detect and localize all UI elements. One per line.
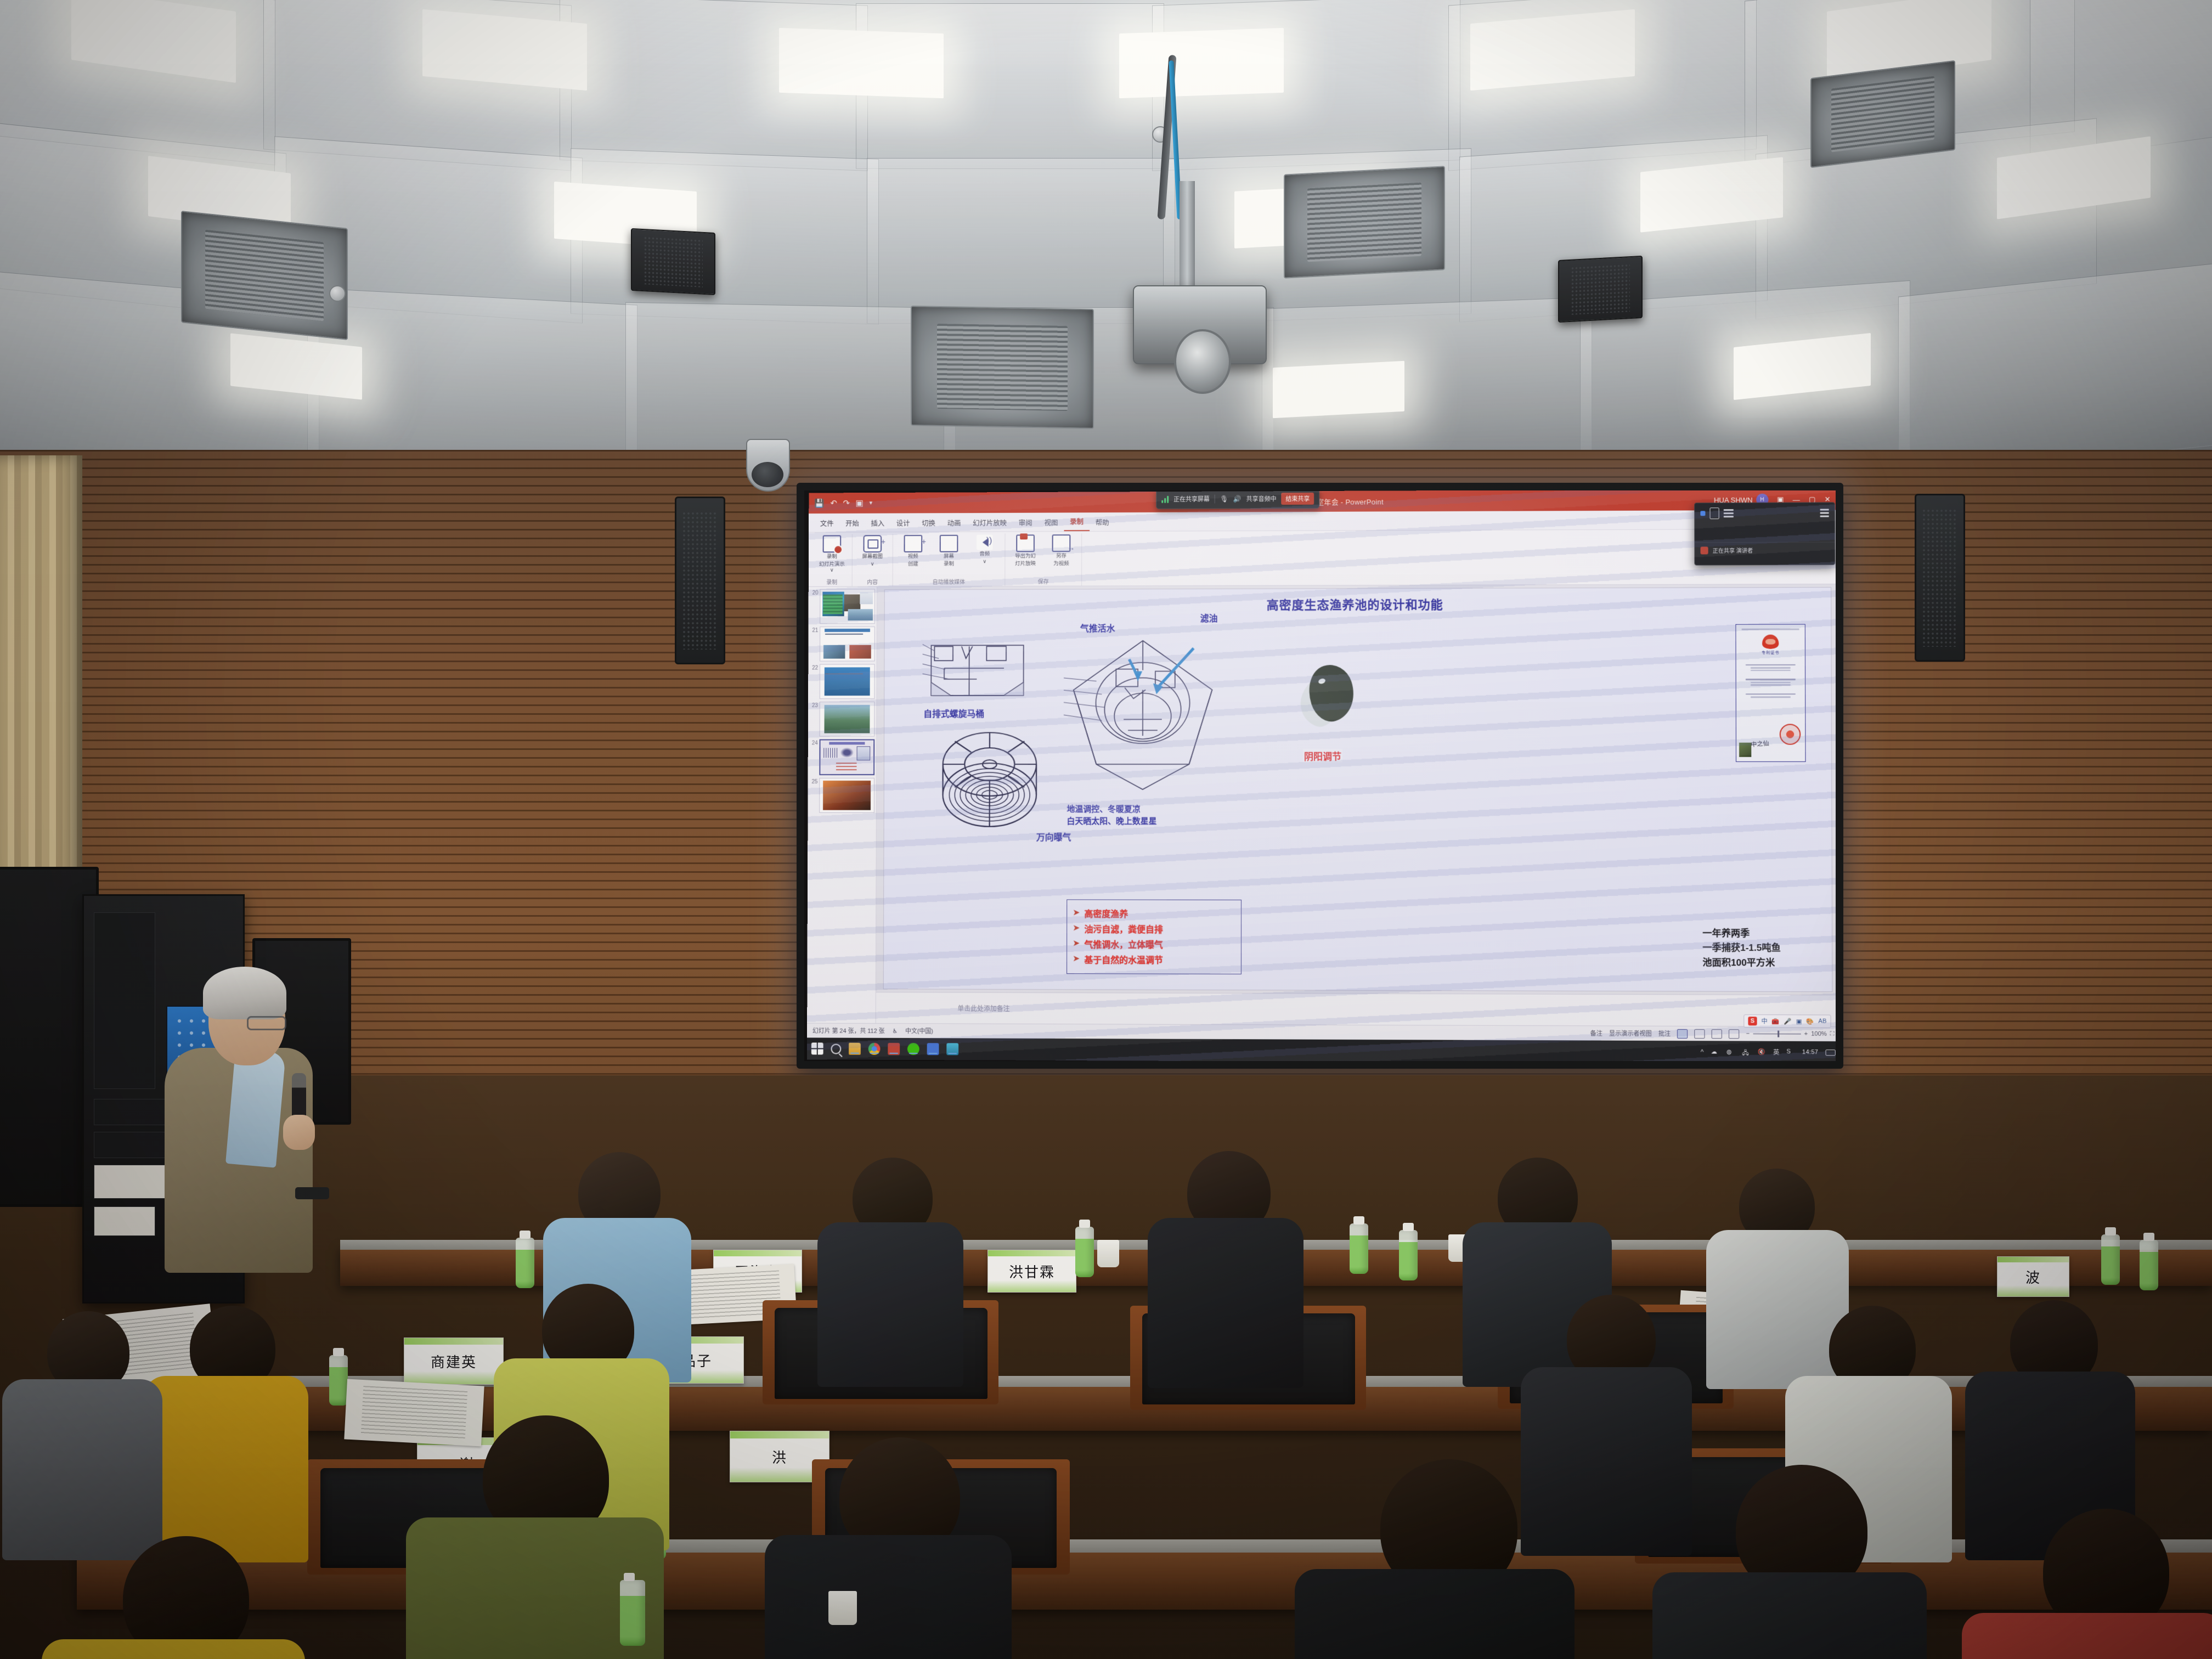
ceiling-light bbox=[1119, 28, 1284, 98]
water-bottle bbox=[1399, 1230, 1418, 1280]
thumbnail-preview[interactable] bbox=[820, 589, 875, 624]
slide-counter: 幻灯片 第 24 张，共 112 张 bbox=[812, 1026, 885, 1035]
water-bottle bbox=[2140, 1240, 2158, 1290]
certificate-photo bbox=[1739, 743, 1751, 757]
start-button-icon[interactable] bbox=[811, 1042, 823, 1054]
ribbon-item-sublabel: 创建 bbox=[908, 562, 918, 568]
thumbnail-number: 23 bbox=[810, 702, 818, 709]
bullet-item: ➤ 高密度渔养 bbox=[1073, 906, 1235, 920]
record-slideshow-icon bbox=[823, 535, 842, 553]
ceiling-camera-icon bbox=[746, 439, 790, 492]
present-icon[interactable]: ▣ bbox=[856, 499, 864, 507]
bullet-label: 气推调水，立体曝气 bbox=[1084, 937, 1163, 950]
ribbon-group-name: 录制 bbox=[826, 577, 837, 586]
screen-recording-button[interactable]: 屏幕 录制 bbox=[934, 535, 964, 568]
ribbon-group-record: 录制 幻灯片演示 ∨ 录制 bbox=[812, 534, 853, 586]
notes-button[interactable]: 备注 bbox=[1590, 1029, 1602, 1037]
record-slideshow-button[interactable]: 录制 幻灯片演示 ∨ bbox=[817, 535, 847, 573]
reading-view-icon[interactable] bbox=[1712, 1029, 1722, 1039]
insert-audio-button[interactable]: 音频 ∨ bbox=[970, 535, 1000, 566]
projection-screen: 💾 ↶ ↷ ▣ ▾ 2024年度创新实验室年会 - PowerPoint HUA… bbox=[797, 483, 1843, 1069]
bullet-label: 油污自滤，粪便自排 bbox=[1084, 922, 1163, 935]
ceiling-light bbox=[422, 9, 587, 91]
certificate-caption: 专利证书 bbox=[1740, 650, 1802, 655]
notes-pane[interactable]: 单击此处添加备注 bbox=[876, 992, 1840, 1026]
ribbon-item-sublabel: ∨ bbox=[983, 559, 986, 565]
presenter-shirt bbox=[225, 1048, 286, 1167]
sogou-logo-icon: S bbox=[1748, 1017, 1757, 1025]
label-omnidirectional-aeration: 万向曝气 bbox=[1036, 830, 1071, 843]
network-icon[interactable]: 🖧 bbox=[1742, 1048, 1750, 1056]
signature: 中之仙 bbox=[1751, 738, 1769, 748]
ime-mode-icon[interactable]: 中 bbox=[1761, 1017, 1767, 1025]
thumbnail-preview[interactable] bbox=[820, 664, 875, 699]
slide-thumbnail[interactable]: 23 bbox=[810, 702, 875, 737]
signal-bars-icon bbox=[1161, 495, 1169, 503]
ribbon-item-label: 音频 bbox=[979, 551, 990, 557]
tab-record[interactable]: 录制 bbox=[1064, 513, 1090, 531]
ribbon-item-label: 录制 bbox=[827, 554, 837, 560]
zoom-level: 100% bbox=[1811, 1031, 1827, 1037]
stat-line-2: 一季捕获1-1.5吨鱼 bbox=[1702, 941, 1781, 956]
screen-record-icon bbox=[940, 535, 958, 552]
ribbon-item-label: 屏幕截图 bbox=[862, 554, 883, 560]
notification-icon[interactable] bbox=[1825, 1049, 1835, 1056]
ribbon-item-sublabel: 幻灯片演示 ∨ bbox=[817, 562, 847, 574]
thumbnail-number: 22 bbox=[810, 664, 818, 672]
name-card-shang-jianying: 商建英 bbox=[404, 1338, 504, 1385]
ime-toolbar[interactable]: S 中 🧰 🎤 ▣ 🎨 AB bbox=[1743, 1014, 1831, 1028]
share-status-label: 正在共享屏幕 bbox=[1173, 495, 1210, 504]
ceiling-light bbox=[779, 28, 944, 98]
tab-insert[interactable]: 插入 bbox=[865, 515, 890, 532]
ribbon-item-label: 另存 bbox=[1056, 554, 1066, 560]
slide-sorter-icon[interactable] bbox=[1695, 1029, 1705, 1039]
stat-line-3: 池面积100平方米 bbox=[1702, 956, 1781, 970]
share-audio-label: 共享音频中 bbox=[1246, 494, 1277, 503]
slide-thumbnail[interactable]: 25 bbox=[809, 778, 874, 813]
ime-toolbox-icon[interactable]: 🧰 bbox=[1772, 1018, 1780, 1025]
water-bottle bbox=[1350, 1223, 1368, 1274]
taskbar-clock[interactable]: 14:57 bbox=[1802, 1049, 1818, 1056]
ribbon-group-name: 自动播放媒体 bbox=[933, 576, 965, 585]
language-indicator[interactable]: 中文(中国) bbox=[905, 1026, 933, 1035]
photo-scene: 💾 ↶ ↷ ▣ ▾ 2024年度创新实验室年会 - PowerPoint HUA… bbox=[0, 0, 2212, 1659]
quick-access-toolbar[interactable]: 💾 ↶ ↷ ▣ ▾ bbox=[814, 499, 872, 507]
stat-line-1: 一年养两季 bbox=[1702, 927, 1781, 941]
aerator-wheel-diagram bbox=[936, 726, 1043, 833]
ac-vent bbox=[1810, 60, 1955, 168]
chevron-right-icon: ➤ bbox=[1073, 955, 1080, 963]
wechat-icon[interactable] bbox=[907, 1043, 919, 1055]
chrome-icon[interactable] bbox=[868, 1043, 881, 1055]
more-icon[interactable]: ▾ bbox=[870, 500, 872, 506]
audience-area: 王海龙 洪甘霖 陈 波 商建英 品子 谢 洪 bbox=[0, 1075, 2212, 1659]
ac-vent bbox=[181, 211, 348, 340]
ac-vent bbox=[911, 306, 1094, 429]
zoom-out-button[interactable]: − bbox=[1746, 1030, 1750, 1037]
meeting-share-toolbar[interactable]: 正在共享屏幕 🎙 🔊 共享音频中 结束共享 bbox=[1156, 489, 1319, 509]
accessibility-icon[interactable]: ♿ bbox=[892, 1028, 898, 1035]
onedrive-icon[interactable]: ☁ bbox=[1711, 1048, 1719, 1056]
chevron-right-icon: ➤ bbox=[1073, 909, 1080, 917]
smoke-detector-icon bbox=[329, 285, 346, 302]
wall-speaker-left bbox=[675, 496, 725, 664]
current-slide[interactable]: 高密度生态渔养池的设计和功能 bbox=[884, 588, 1832, 991]
thumbnail-preview[interactable] bbox=[820, 702, 875, 737]
ime-indicator[interactable]: 英 bbox=[1773, 1048, 1779, 1057]
bullet-label: 基于自然的水温调节 bbox=[1084, 952, 1163, 966]
ribbon-item-label: 导出为幻 bbox=[1015, 554, 1036, 560]
subtitle-line-1: 地温调控、冬暖夏凉 bbox=[1067, 804, 1157, 816]
save-video-icon bbox=[1052, 534, 1071, 552]
speaker-icon[interactable]: 🔊 bbox=[1233, 495, 1242, 503]
export-slideshow-button[interactable]: 导出为幻 灯片放映 bbox=[1011, 534, 1040, 567]
chevron-right-icon: ➤ bbox=[1073, 924, 1080, 933]
meeting-mini-panel[interactable]: 正在共享 演讲者 bbox=[1694, 502, 1835, 565]
stop-share-button[interactable]: 结束共享 bbox=[1281, 493, 1314, 505]
audio-icon bbox=[977, 535, 993, 550]
slide-thumbnail[interactable]: 22 bbox=[810, 664, 875, 699]
handout-paper bbox=[344, 1379, 484, 1447]
ribbon-item-sublabel: 灯片放映 bbox=[1015, 561, 1036, 567]
ceiling-light bbox=[1273, 361, 1404, 419]
screenshot-icon bbox=[864, 535, 882, 552]
slide-thumbnail-pane[interactable]: 20 21 22 bbox=[807, 586, 877, 1023]
app-icon[interactable]: ◍ bbox=[1726, 1048, 1735, 1056]
file-explorer-icon[interactable] bbox=[849, 1043, 861, 1055]
normal-view-icon[interactable] bbox=[1677, 1029, 1688, 1038]
water-bottle bbox=[1075, 1227, 1094, 1277]
comments-button[interactable]: 批注 bbox=[1658, 1029, 1671, 1038]
thumbnail-preview[interactable] bbox=[819, 739, 874, 775]
label-air-driven-water-flow: 气推活水 bbox=[1080, 621, 1115, 634]
slide-title: 高密度生态渔养池的设计和功能 bbox=[885, 594, 1831, 614]
bullet-item: ➤ 基于自然的水温调节 bbox=[1073, 952, 1235, 966]
tab-design[interactable]: 设计 bbox=[890, 515, 916, 532]
ac-vent bbox=[1284, 166, 1445, 278]
thumbnail-number: 21 bbox=[810, 627, 818, 634]
thumbnail-number: 25 bbox=[810, 778, 818, 785]
tab-home[interactable]: 开始 bbox=[839, 515, 865, 532]
ceiling-speaker bbox=[1558, 256, 1643, 323]
label-yin-yang-regulation: 阴阳调节 bbox=[1303, 749, 1342, 763]
blue-app-icon[interactable] bbox=[927, 1043, 939, 1055]
powerpoint-icon[interactable] bbox=[888, 1043, 900, 1055]
label-self-draining-spiral-toilet: 自排式螺旋马桶 bbox=[923, 707, 984, 720]
ribbon-group-automedia: 视频 创建 屏幕 录制 音频 ∨ bbox=[893, 534, 1006, 586]
paper-cup bbox=[1097, 1240, 1119, 1267]
microphone-icon[interactable]: 🎙 bbox=[1220, 495, 1228, 503]
ribbon-body[interactable]: 录制 幻灯片演示 ∨ 录制 屏幕截图 ∨ bbox=[809, 529, 1839, 587]
wall-speaker-right bbox=[1915, 494, 1965, 662]
powerpoint-workspace: 20 21 22 bbox=[807, 584, 1840, 1026]
save-as-video-button[interactable]: 另存 为视频 bbox=[1047, 534, 1076, 567]
yin-yang-fish-icon bbox=[1299, 649, 1364, 737]
name-card-hong-ganlin: 洪甘霖 bbox=[988, 1250, 1076, 1293]
chevron-right-icon: ➤ bbox=[1073, 939, 1080, 948]
slide-canvas-area: 高密度生态渔养池的设计和功能 bbox=[876, 584, 1840, 1026]
powerpoint-window: 💾 ↶ ↷ ▣ ▾ 2024年度创新实验室年会 - PowerPoint HUA… bbox=[807, 489, 1840, 1063]
fit-to-window-icon[interactable]: ⛶ bbox=[1830, 1030, 1835, 1037]
ribbon-group-content: 屏幕截图 ∨ 内容 bbox=[853, 534, 893, 586]
slideshow-icon[interactable] bbox=[1729, 1029, 1739, 1039]
presenter-person bbox=[165, 966, 346, 1273]
system-tray[interactable]: ^ ☁ ◍ 🖧 🔇 英 S 14:57 bbox=[1701, 1047, 1836, 1057]
tab-file[interactable]: 文件 bbox=[814, 515, 839, 532]
label-oil-filter: 滤油 bbox=[1200, 611, 1218, 624]
tab-slideshow[interactable]: 幻灯片放映 bbox=[967, 515, 1013, 532]
export-slideshow-icon bbox=[1016, 534, 1035, 552]
ceiling bbox=[0, 0, 2212, 483]
presenter-clicker bbox=[295, 1187, 329, 1199]
red-stamp-icon bbox=[1780, 724, 1801, 744]
teal-app-icon[interactable] bbox=[946, 1043, 958, 1055]
presenter-hair bbox=[203, 967, 286, 1019]
subtitle-line-2: 白天晒太阳、晚上数星星 bbox=[1067, 816, 1157, 828]
document-title: 2024年度创新实验室年会 - PowerPoint bbox=[809, 494, 1838, 509]
paper-cup bbox=[828, 1591, 857, 1625]
water-bottle bbox=[329, 1355, 348, 1406]
presenter-glasses-icon bbox=[247, 1016, 286, 1030]
water-bottle bbox=[620, 1580, 645, 1646]
search-icon[interactable] bbox=[831, 1043, 841, 1054]
pond-tank-diagram bbox=[1064, 637, 1222, 796]
name-card-bo: 波 bbox=[1997, 1256, 2069, 1297]
ribbon-item-sublabel: ∨ bbox=[871, 562, 874, 568]
bullet-item: ➤ 气推调水，立体曝气 bbox=[1073, 937, 1235, 951]
bullet-item: ➤ 油污自滤，粪便自排 bbox=[1073, 922, 1235, 935]
tab-view[interactable]: 视图 bbox=[1039, 514, 1064, 531]
ribbon-item-label: 屏幕 bbox=[944, 554, 954, 560]
ime-screenshot-icon[interactable]: ▣ bbox=[1796, 1018, 1802, 1025]
redo-icon[interactable]: ↷ bbox=[843, 499, 850, 507]
status-dot bbox=[1700, 511, 1705, 516]
water-bottle bbox=[516, 1238, 534, 1288]
thumbnail-number: 20 bbox=[810, 589, 819, 596]
ime-skin-icon[interactable]: 🎨 bbox=[1806, 1018, 1814, 1025]
show-hidden-icons[interactable]: ^ bbox=[1701, 1048, 1704, 1056]
slide-subtitle: 地温调控、冬暖夏凉 白天晒太阳、晚上数星星 bbox=[1067, 804, 1157, 827]
screenshot-button[interactable]: 屏幕截图 ∨ bbox=[858, 535, 887, 567]
divider bbox=[1215, 495, 1215, 504]
slide-thumbnail-selected[interactable]: 24 bbox=[810, 739, 875, 775]
ceiling-speaker bbox=[631, 228, 715, 295]
ime-menu-icon[interactable]: AB bbox=[1818, 1018, 1826, 1025]
undo-icon[interactable]: ↶ bbox=[830, 499, 837, 507]
video-icon bbox=[904, 535, 923, 552]
thumbnail-preview[interactable] bbox=[820, 627, 875, 662]
bullet-label: 高密度渔养 bbox=[1084, 906, 1128, 919]
sogou-tray-icon[interactable]: S bbox=[1786, 1048, 1795, 1056]
layout-icon[interactable] bbox=[1710, 507, 1719, 519]
thumbnail-preview[interactable] bbox=[819, 778, 874, 813]
recording-badge bbox=[1701, 546, 1708, 554]
menu-icon[interactable] bbox=[1820, 509, 1829, 517]
save-icon[interactable]: 💾 bbox=[814, 499, 824, 507]
ribbon-item-label: 视频 bbox=[908, 554, 918, 560]
zoom-in-button[interactable]: + bbox=[1804, 1031, 1808, 1037]
projector-mount bbox=[1180, 181, 1195, 291]
mini-panel-title: 正在共享 演讲者 bbox=[1713, 546, 1753, 554]
tab-help[interactable]: 帮助 bbox=[1090, 514, 1115, 531]
feature-bullet-box: ➤ 高密度渔养 ➤ 油污自滤，粪便自排 ➤ 气推 bbox=[1066, 899, 1242, 974]
projector-lens-icon bbox=[1174, 329, 1231, 394]
national-emblem-icon bbox=[1762, 634, 1779, 648]
patent-certificate-image: 专利证书 中之仙 bbox=[1735, 624, 1805, 761]
ribbon-group-name: 保存 bbox=[1038, 576, 1049, 585]
presenter-view-button[interactable]: 显示演示者视图 bbox=[1609, 1029, 1652, 1037]
presenter-hand bbox=[283, 1115, 315, 1150]
slide-thumbnail[interactable]: 20 bbox=[810, 589, 876, 624]
ribbon-item-sublabel: 录制 bbox=[944, 561, 954, 567]
volume-muted-icon[interactable]: 🔇 bbox=[1758, 1048, 1766, 1056]
ime-voice-icon[interactable]: 🎤 bbox=[1784, 1018, 1792, 1025]
ribbon-group-save: 导出为幻 灯片放映 另存 为视频 保存 bbox=[1005, 533, 1082, 586]
ribbon-group-name: 内容 bbox=[867, 577, 878, 586]
list-icon[interactable] bbox=[1724, 509, 1734, 517]
zoom-slider[interactable]: − + 100% ⛶ bbox=[1746, 1030, 1835, 1038]
insert-video-button[interactable]: 视频 创建 bbox=[899, 535, 928, 568]
powerpoint-title-bar: 💾 ↶ ↷ ▣ ▾ 2024年度创新实验室年会 - PowerPoint HUA… bbox=[809, 489, 1838, 513]
windows-taskbar[interactable]: ^ ☁ ◍ 🖧 🔇 英 S 14:57 bbox=[807, 1037, 1840, 1063]
tab-review[interactable]: 审阅 bbox=[1013, 515, 1039, 532]
tab-transitions[interactable]: 切换 bbox=[916, 515, 941, 532]
slide-thumbnail[interactable]: 21 bbox=[810, 627, 875, 662]
tab-animations[interactable]: 动画 bbox=[941, 515, 967, 532]
spiral-toilet-diagram bbox=[922, 640, 1031, 706]
water-bottle bbox=[2101, 1234, 2120, 1285]
ribbon-item-sublabel: 为视频 bbox=[1053, 561, 1069, 567]
thumbnail-number: 24 bbox=[810, 739, 818, 746]
slide-statistics: 一年养两季 一季捕获1-1.5吨鱼 池面积100平方米 bbox=[1702, 927, 1781, 970]
